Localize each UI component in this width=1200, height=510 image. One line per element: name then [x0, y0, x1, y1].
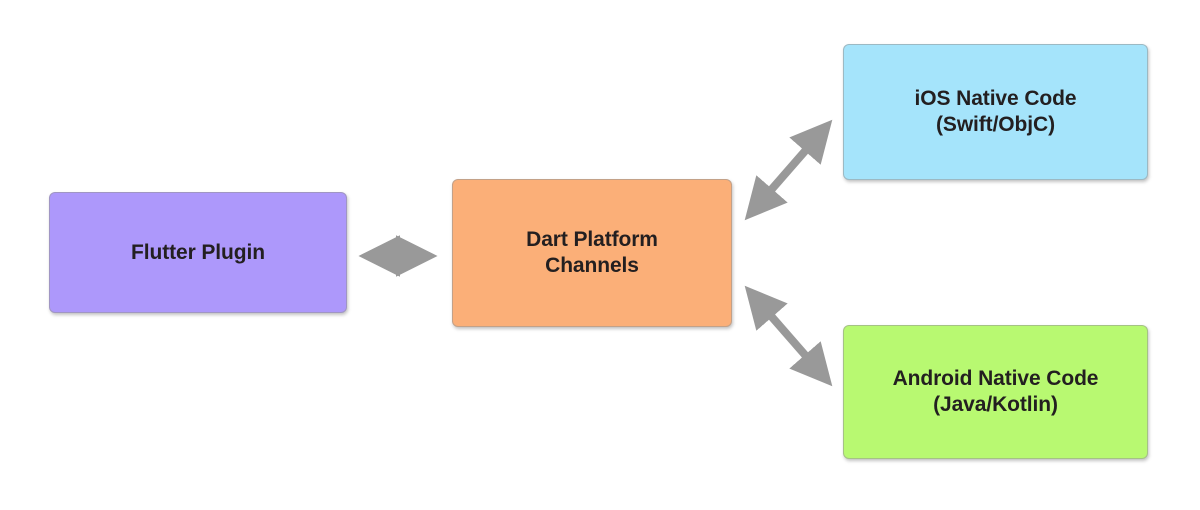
node-android-native-code-label: Android Native Code (Java/Kotlin) — [883, 366, 1109, 417]
node-dart-platform-channels[interactable]: Dart Platform Channels — [452, 179, 732, 327]
connector-dart-platform-channels-to-ios-native-code — [751, 127, 826, 213]
connector-dart-platform-channels-to-android-native-code — [751, 293, 826, 379]
node-android-native-code[interactable]: Android Native Code (Java/Kotlin) — [843, 325, 1148, 459]
node-dart-platform-channels-label: Dart Platform Channels — [516, 227, 668, 278]
node-flutter-plugin-label: Flutter Plugin — [121, 240, 275, 266]
node-ios-native-code[interactable]: iOS Native Code (Swift/ObjC) — [843, 44, 1148, 180]
node-flutter-plugin[interactable]: Flutter Plugin — [49, 192, 347, 313]
diagram-canvas: Flutter Plugin Dart Platform Channels iO… — [0, 0, 1200, 510]
node-ios-native-code-label: iOS Native Code (Swift/ObjC) — [905, 86, 1087, 137]
